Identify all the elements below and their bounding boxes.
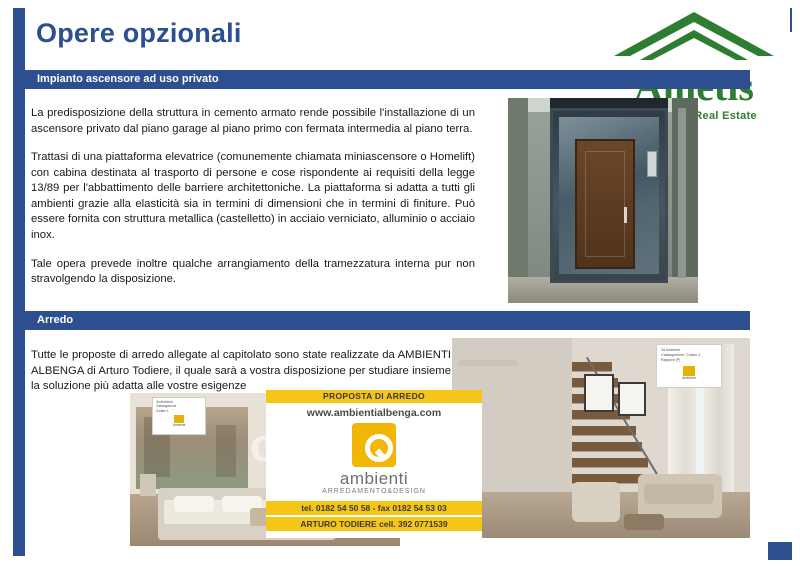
advert-brand-name: ambienti <box>266 469 482 489</box>
ambienti-advert: PROPOSTA DI ARREDO www.ambientialbenga.c… <box>266 390 482 538</box>
bedroom-pillow <box>174 496 214 512</box>
advert-top-banner: PROPOSTA DI ARREDO <box>266 390 482 403</box>
living-sofa-back <box>644 484 714 504</box>
living-card-line3: Rapporti (P) <box>661 358 717 363</box>
elevator-photo-call-panel <box>647 151 657 177</box>
living-room-photo: 3d Ambienti Catalogazione: Codice 4 Rapp… <box>452 338 750 538</box>
left-accent-bar <box>13 8 25 556</box>
arredo-paragraph-1: Tutte le proposte di arredo allegate al … <box>31 348 451 395</box>
ametis-logo-graphic: Ametis <box>598 8 790 112</box>
elevator-photo-door-handle <box>624 207 627 223</box>
stair-step <box>572 458 648 467</box>
arredo-body-text: Tutte le proposte di arredo allegate al … <box>31 348 451 395</box>
elevator-photo-column <box>678 108 686 278</box>
living-framed-picture <box>618 382 646 416</box>
living-card-logo-icon <box>683 366 695 376</box>
bedroom-lamp <box>140 474 156 496</box>
elevator-photo <box>508 98 698 303</box>
elevator-photo-shaft <box>550 108 668 283</box>
advert-website: www.ambientialbenga.com <box>266 403 482 421</box>
section-header-elevator: Impianto ascensore ad uso privato <box>25 70 750 89</box>
advert-brand-subtitle: ARREDAMENTO&DESIGN <box>266 488 482 495</box>
elevator-paragraph-3: Tale opera prevede inoltre qualche arran… <box>31 257 475 288</box>
elevator-photo-wall-left <box>508 98 528 303</box>
living-framed-picture <box>584 374 614 412</box>
document-page: Opere opzionali Ametis Since 1929 Real E… <box>0 0 800 566</box>
bedroom-card-line3: Codice 1 <box>156 409 202 413</box>
living-ceiling-lamp <box>458 360 518 366</box>
advert-phone-line: tel. 0182 54 50 58 - fax 0182 54 53 03 <box>266 501 482 515</box>
elevator-photo-door <box>575 139 635 269</box>
bedroom-photo-caption-card: 3d Ambienti Catalogazione Codice 1 Ambie… <box>152 397 206 435</box>
bottom-right-accent-block <box>768 542 792 560</box>
elevator-paragraph-1: La predisposizione della struttura in ce… <box>31 106 475 137</box>
section-header-arredo: Arredo <box>25 311 750 330</box>
living-coffee-table <box>624 514 664 530</box>
advert-logo <box>266 421 482 467</box>
ambienti-q-logo-icon <box>352 423 396 467</box>
stair-step <box>572 426 636 435</box>
living-card-brand: Ambienti <box>661 376 717 381</box>
elevator-paragraph-2: Trattasi di una piattaforma elevatrice (… <box>31 150 475 243</box>
living-photo-caption-card: 3d Ambienti Catalogazione: Codice 4 Rapp… <box>656 344 722 388</box>
living-armchair <box>572 482 620 522</box>
elevator-body-text: La predisposizione della struttura in ce… <box>31 106 475 288</box>
page-title: Opere opzionali <box>36 18 242 49</box>
bedroom-card-logo-icon <box>174 415 184 423</box>
bedroom-card-brand: Ambienti <box>156 423 202 427</box>
advert-contact-line: ARTURO TODIERE cell. 392 0771539 <box>266 517 482 531</box>
stair-step <box>572 442 642 451</box>
